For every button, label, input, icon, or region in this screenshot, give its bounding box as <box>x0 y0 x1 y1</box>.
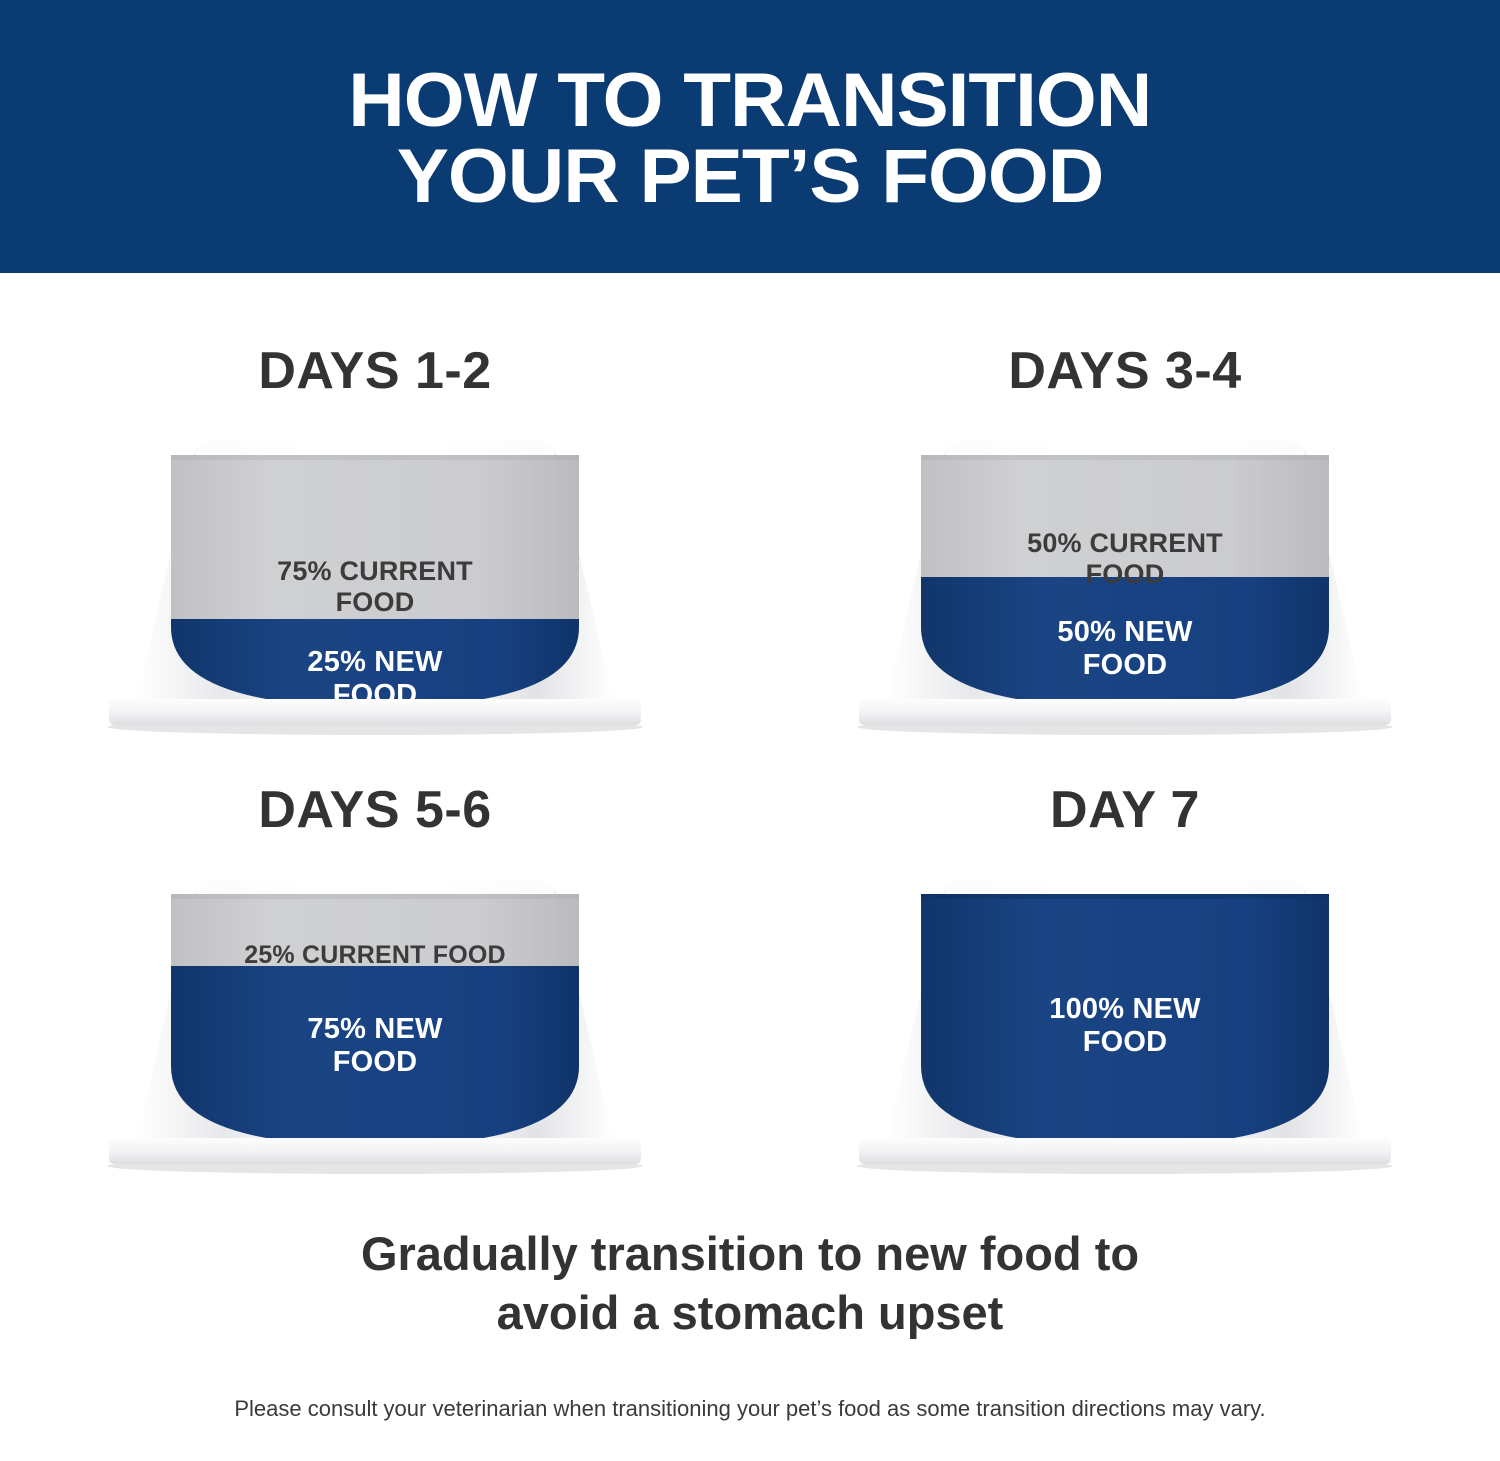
footer-tagline-line1: Gradually transition to new food to <box>361 1225 1139 1284</box>
food-bowl-days-3-4: 50% CURRENT FOOD 50% NEW FOOD <box>825 431 1425 738</box>
food-bowl-illustration <box>825 870 1425 1177</box>
step-title-days-5-6: DAYS 5-6 <box>258 784 491 836</box>
footer-tagline-line2: avoid a stomach upset <box>361 1284 1139 1343</box>
page-title-line1: HOW TO TRANSITION <box>349 63 1152 138</box>
food-bowl-days-5-6: 25% CURRENT FOOD 75% NEW FOOD <box>75 870 675 1177</box>
page-footer: Gradually transition to new food to avoi… <box>0 1177 1500 1423</box>
footer-tagline: Gradually transition to new food to avoi… <box>361 1225 1139 1343</box>
footer-disclaimer: Please consult your veterinarian when tr… <box>234 1395 1265 1424</box>
page-header: HOW TO TRANSITION YOUR PET’S FOOD <box>0 0 1500 273</box>
food-bowl-illustration <box>75 431 675 738</box>
transition-steps-grid: DAYS 1-2 <box>0 273 1500 1177</box>
page-title-line2: YOUR PET’S FOOD <box>397 139 1104 214</box>
step-title-day-7: DAY 7 <box>1050 784 1200 836</box>
transition-step-day-7: DAY 7 100% NEW FOO <box>750 738 1500 1177</box>
transition-step-days-3-4: DAYS 3-4 50% CURR <box>750 273 1500 738</box>
step-title-days-3-4: DAYS 3-4 <box>1008 345 1241 397</box>
transition-step-days-1-2: DAYS 1-2 <box>0 273 750 738</box>
food-bowl-illustration <box>825 431 1425 738</box>
food-bowl-illustration <box>75 870 675 1177</box>
step-title-days-1-2: DAYS 1-2 <box>258 345 491 397</box>
transition-step-days-5-6: DAYS 5-6 25% CURR <box>0 738 750 1177</box>
food-bowl-day-7: 100% NEW FOOD <box>825 870 1425 1177</box>
food-bowl-days-1-2: 75% CURRENT FOOD 25% NEW FOOD <box>75 431 675 738</box>
